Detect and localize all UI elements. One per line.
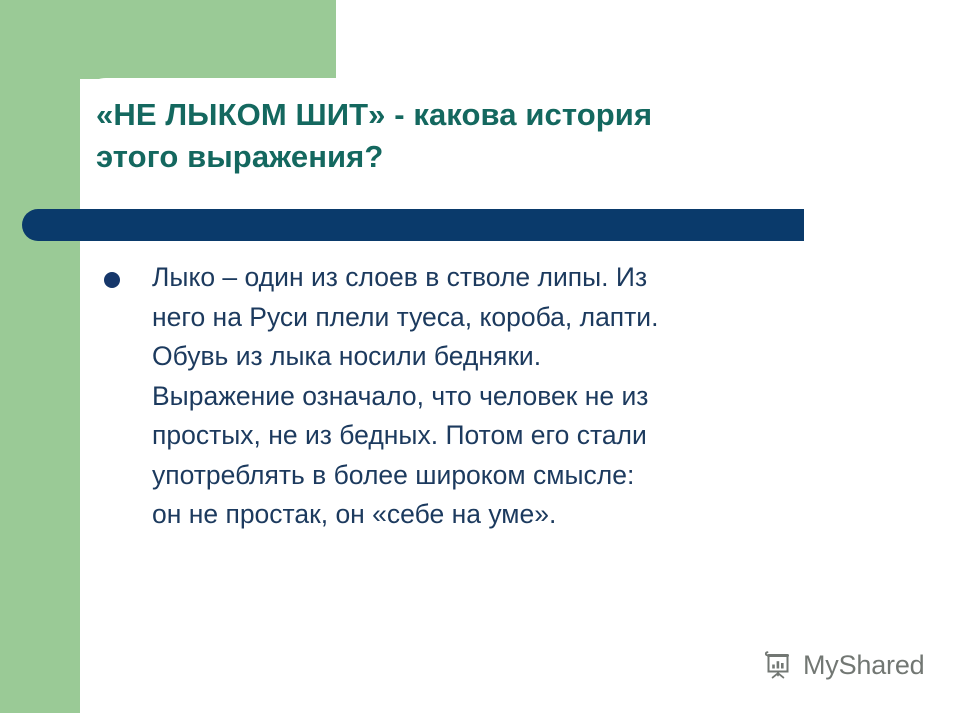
myshared-watermark-label: MyShared [803, 650, 924, 680]
body-line-1: Лыко – один из слоев в стволе липы. Из [152, 258, 904, 298]
myshared-watermark: MyShared [762, 648, 924, 682]
slide-title-line-1: «НЕ ЛЫКОМ ШИТ» - какова история [96, 94, 896, 136]
navy-divider-bar [22, 209, 804, 241]
body-line-7: он не простак, он «себе на уме». [152, 495, 904, 535]
body-line-6: употреблять в более широком смысле: [152, 456, 904, 496]
bullet-dot-icon [104, 272, 120, 288]
slide-title: «НЕ ЛЫКОМ ШИТ» - какова история этого вы… [96, 94, 896, 178]
body-line-4: Выражение означало, что человек не из [152, 377, 904, 417]
bullet-list-item: Лыко – один из слоев в стволе липы. Из н… [104, 258, 904, 535]
flipchart-chart-icon [762, 648, 796, 682]
body-line-5: простых, не из бедных. Потом его стали [152, 416, 904, 456]
green-left-column-decoration [0, 0, 80, 713]
body-line-2: него на Руси плели туеса, короба, лапти. [152, 298, 904, 338]
slide-body: Лыко – один из слоев в стволе липы. Из н… [104, 258, 904, 535]
bullet-item-text: Лыко – один из слоев в стволе липы. Из н… [152, 258, 904, 535]
body-line-3: Обувь из лыка носили бедняки. [152, 337, 904, 377]
slide-title-line-2: этого выражения? [96, 136, 896, 178]
presentation-slide: «НЕ ЛЫКОМ ШИТ» - какова история этого вы… [0, 0, 960, 720]
